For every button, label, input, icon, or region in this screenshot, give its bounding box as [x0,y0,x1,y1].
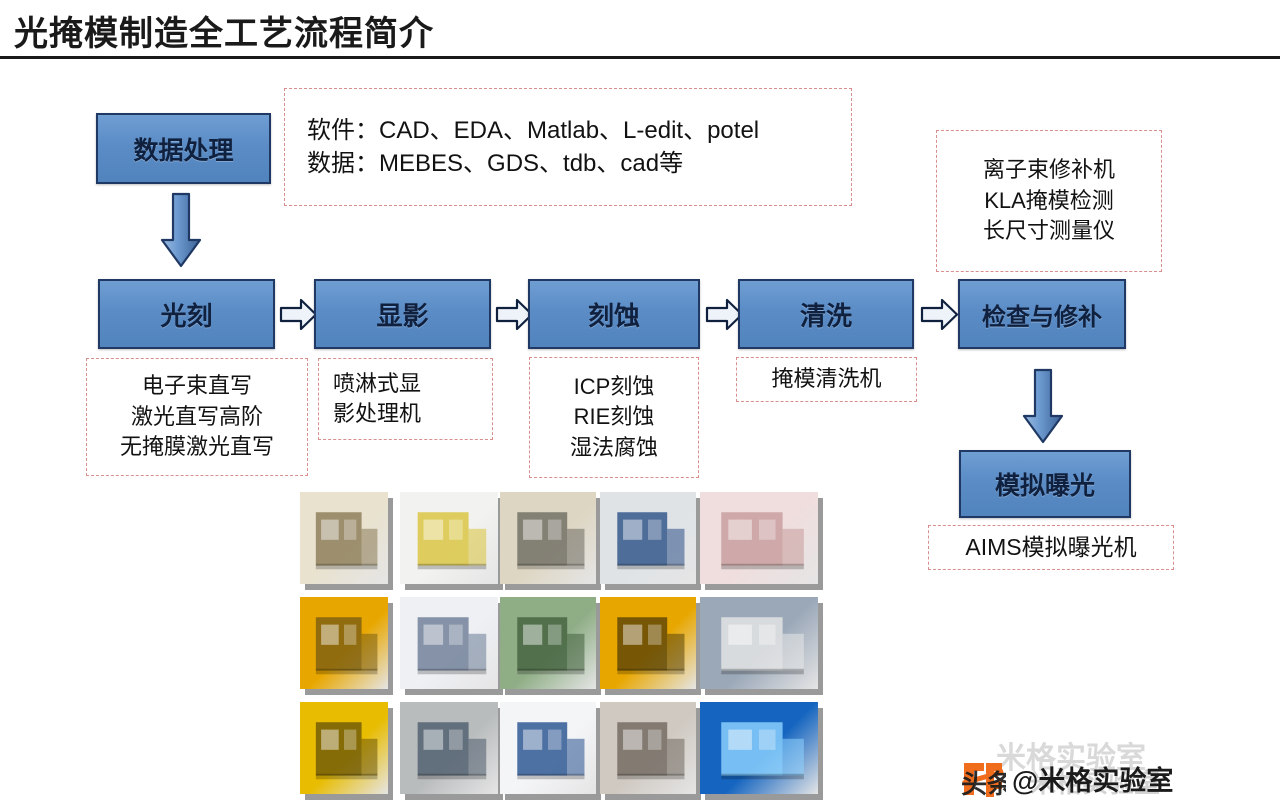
photo-laser-writer [300,492,388,584]
photo-frame [500,597,596,689]
photo-cd-metrology [500,702,596,794]
slide-canvas: 光掩模制造全工艺流程简介 数据处理 软件：CAD、EDA、Matlab、L-ed… [0,0,1280,810]
node-etch[interactable]: 刻蚀 [528,279,700,349]
photo-develop-track [600,492,696,584]
photo-frame [300,492,388,584]
watermark-handle: @米格实验室 [1012,759,1173,798]
node-litho[interactable]: 光刻 [98,279,275,349]
photo-icp-etcher [300,597,388,689]
arrow-right-icon-1 [279,298,318,331]
arrow-right-icon-4 [920,298,959,331]
photo-maskless-writer [500,492,596,584]
photo-wet-bench [500,597,596,689]
annotation-litho-line-1: 电子束直写 [142,371,252,401]
annotation-litho-line-2: 激光直写高阶 [131,402,263,432]
annotation-etch-line-2: RIE刻蚀 [574,402,655,432]
photo-frame [300,702,388,794]
node-litho-label: 光刻 [160,296,212,333]
photo-frame [300,597,388,689]
photo-frame [600,702,696,794]
photo-frame [700,597,818,689]
photo-rie-etcher [400,597,498,689]
annotation-software-line: 软件：CAD、EDA、Matlab、L-edit、potel [307,114,759,147]
annotation-clean-line-1: 掩模清洗机 [771,364,881,394]
annotation-data-line: 数据：MEBES、GDS、tdb、cad等 [307,147,683,180]
node-inspect-repair-label: 检查与修补 [982,297,1102,332]
photo-frame [400,492,498,584]
node-develop[interactable]: 显影 [314,279,491,349]
photo-aims-tool [700,702,818,794]
arrow-down-icon [160,192,202,270]
annotation-etch-tools: ICP刻蚀 RIE刻蚀 湿法腐蚀 [529,357,699,478]
annotation-etch-line-1: ICP刻蚀 [574,372,655,402]
node-inspect-repair[interactable]: 检查与修补 [958,279,1126,349]
node-data-processing-label: 数据处理 [133,131,233,167]
annotation-litho-tools: 电子束直写 激光直写高阶 无掩膜激光直写 [86,358,308,476]
annotation-develop-line-1: 喷淋式显 [333,369,421,399]
photo-frame [600,597,696,689]
page-title: 光掩模制造全工艺流程简介 [14,6,434,55]
arrow-down-icon-2 [1022,368,1064,446]
toutiao-logo-icon: 头条 [960,757,1006,799]
photo-frame [600,492,696,584]
photo-develop-processor [700,492,818,584]
photo-mask-cleaner [600,597,696,689]
annotation-litho-line-3: 无掩膜激光直写 [120,432,274,462]
node-sim-exposure-label: 模拟曝光 [995,466,1095,502]
annotation-clean-tools: 掩模清洗机 [736,357,917,402]
photo-ion-beam-repair [300,702,388,794]
photo-cleaning-robot [700,597,818,689]
photo-ebeam-writer [400,492,498,584]
equipment-photo-grid [300,492,820,802]
photo-frame [400,702,498,794]
annotation-aims-line-1: AIMS模拟曝光机 [965,532,1136,564]
node-sim-exposure[interactable]: 模拟曝光 [959,450,1131,518]
annotation-inspection-line-2: KLA掩模检测 [984,186,1114,216]
annotation-aims-tools: AIMS模拟曝光机 [928,525,1174,570]
node-develop-label: 显影 [376,296,428,333]
photo-frame [700,492,818,584]
annotation-develop-tools: 喷淋式显 影处理机 [318,358,493,440]
annotation-develop-line-2: 影处理机 [333,399,421,429]
photo-frame [700,702,818,794]
annotation-inspection-tools: 离子束修补机 KLA掩模检测 长尺寸测量仪 [936,130,1162,272]
photo-frame [500,702,596,794]
node-clean[interactable]: 清洗 [738,279,914,349]
node-etch-label: 刻蚀 [588,296,640,333]
node-data-processing[interactable]: 数据处理 [96,113,271,184]
title-divider [0,56,1280,59]
photo-frame [400,597,498,689]
photo-kla-inspection [400,702,498,794]
photo-cleanroom-bay [600,702,696,794]
watermark-main: 头条 @米格实验室 [960,757,1173,799]
annotation-software-data: 软件：CAD、EDA、Matlab、L-edit、potel 数据：MEBES、… [284,88,852,206]
node-clean-label: 清洗 [800,296,852,333]
photo-frame [500,492,596,584]
annotation-etch-line-3: 湿法腐蚀 [570,433,658,463]
svg-text:头条: 头条 [961,769,1006,799]
annotation-inspection-line-1: 离子束修补机 [983,155,1115,185]
watermark: 米格实验室 米格实验室 头条 @米格实验室 [960,735,1270,805]
annotation-inspection-line-3: 长尺寸测量仪 [983,216,1115,246]
